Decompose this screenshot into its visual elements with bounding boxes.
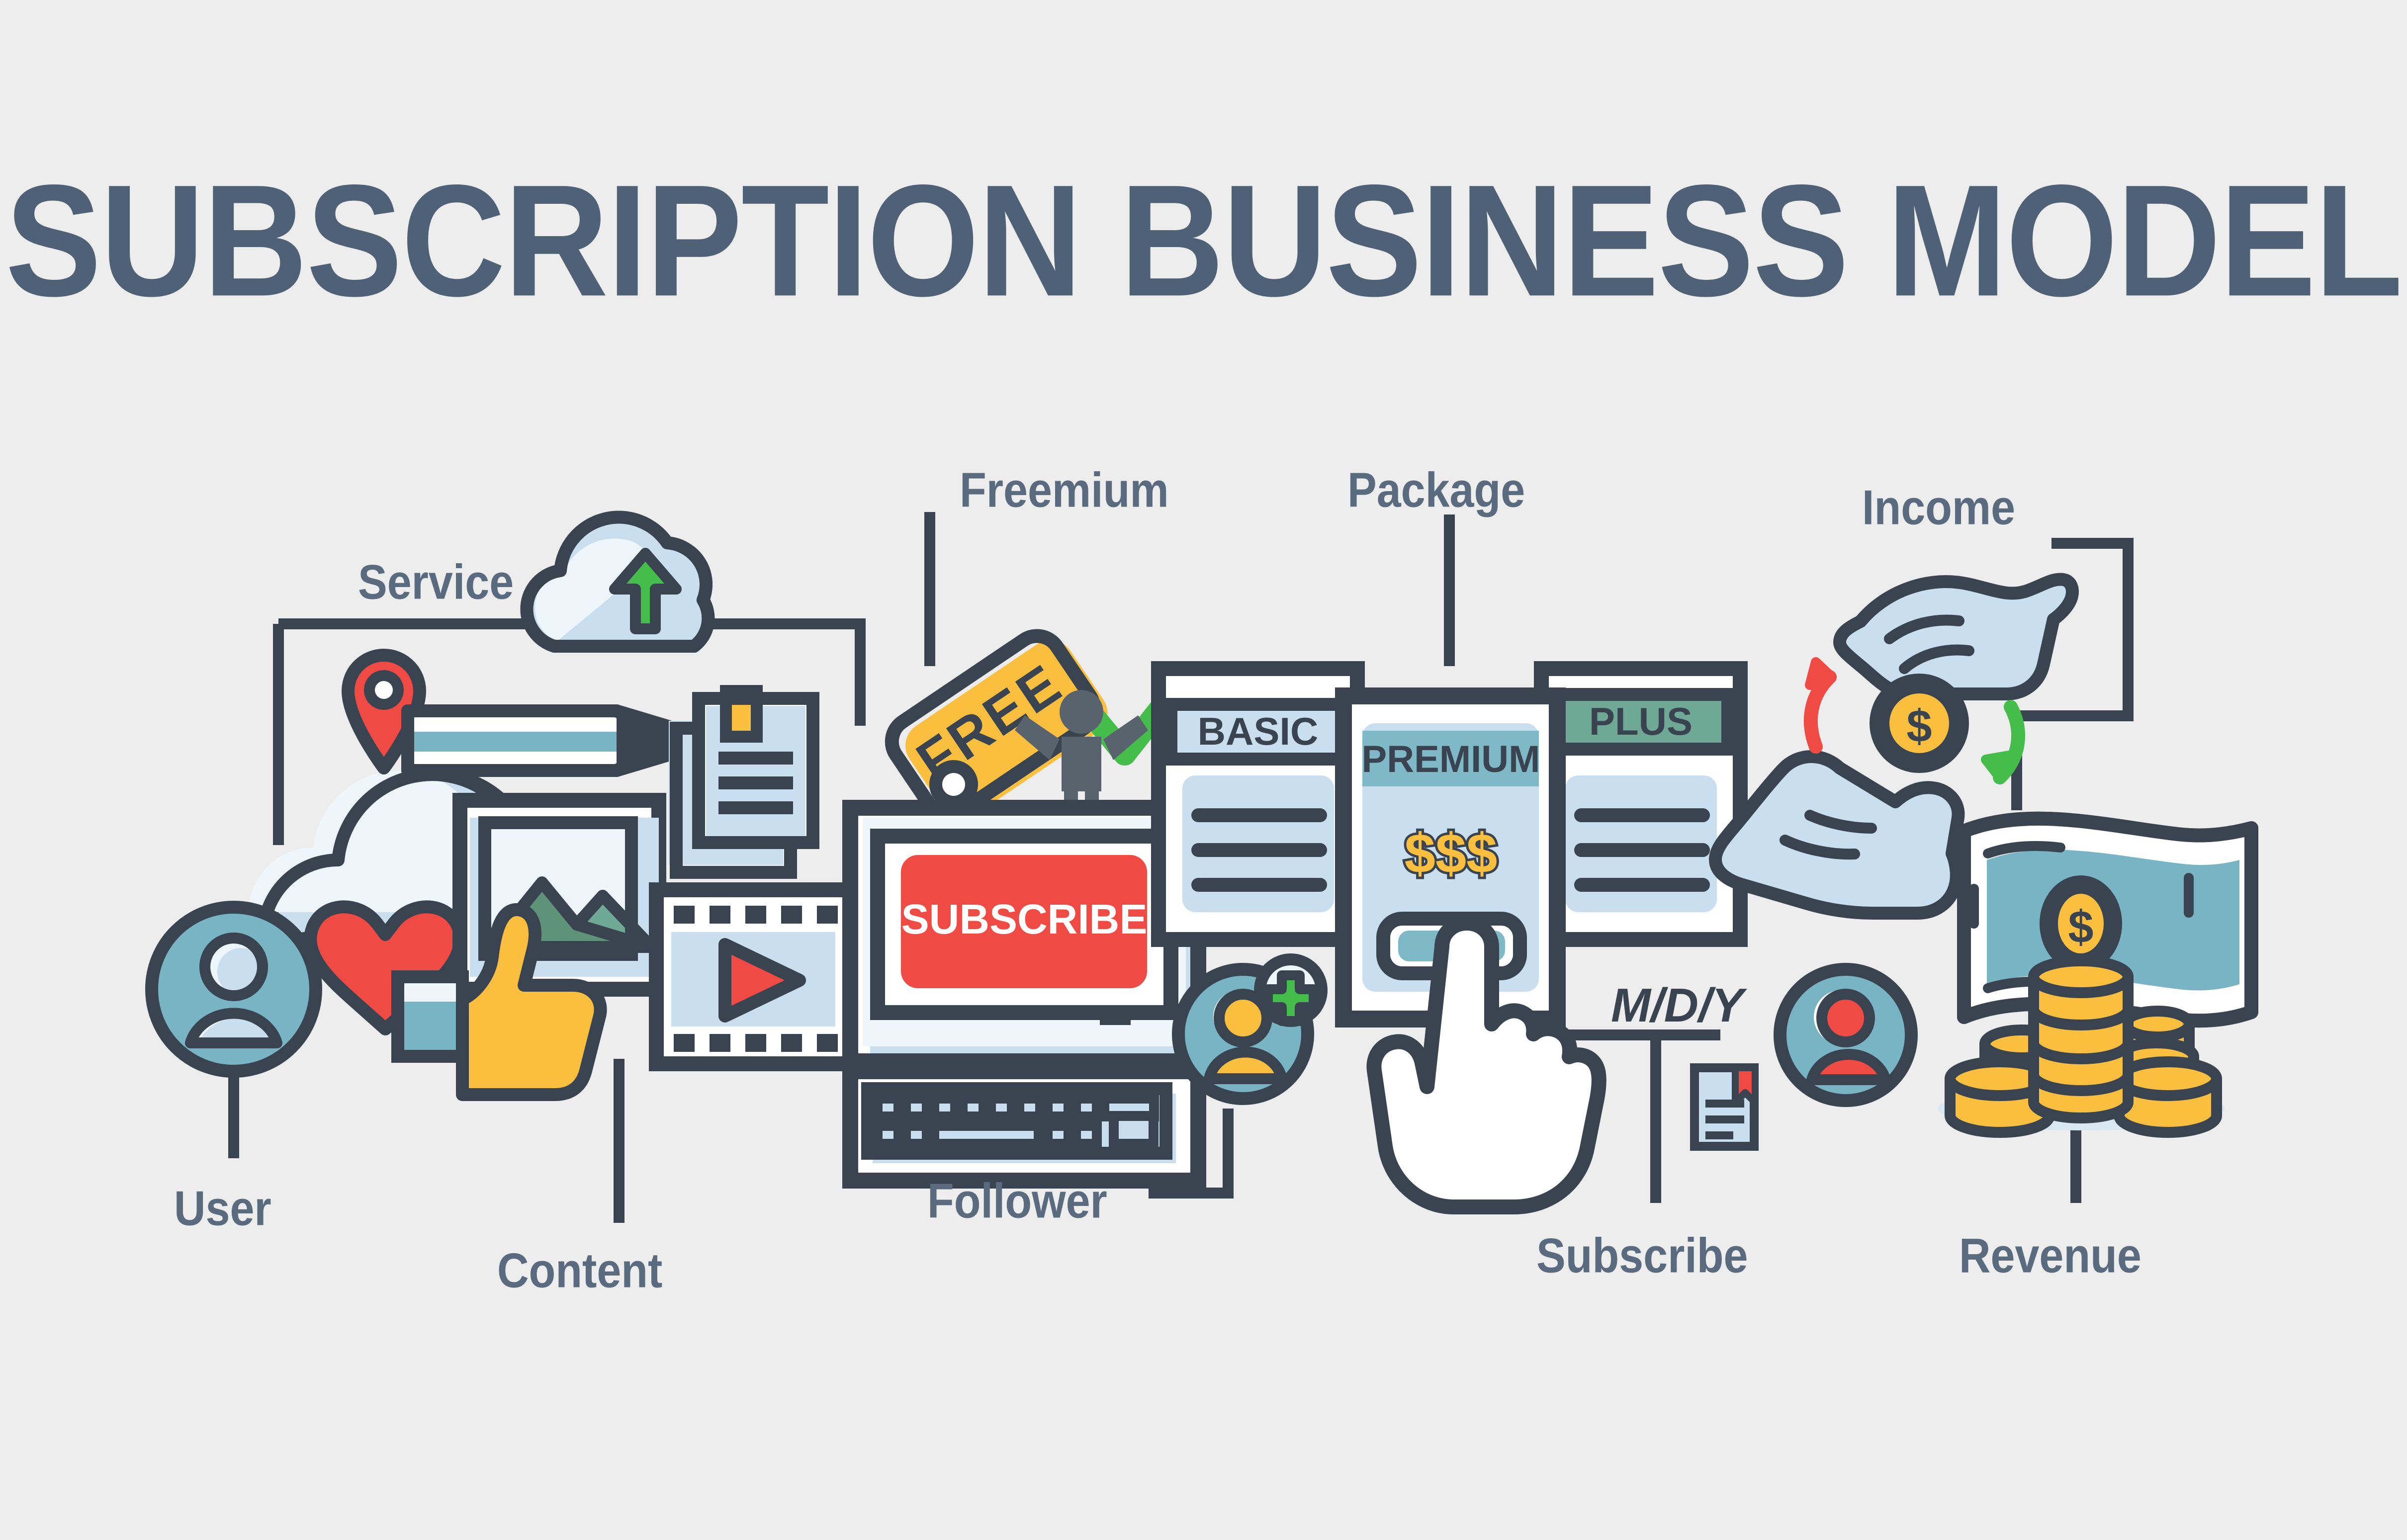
label-freemium: Freemium — [960, 462, 1169, 518]
premium-label: PREMIUM — [1362, 738, 1540, 780]
keyboard-icon — [850, 1071, 1198, 1181]
package-card-basic: BASIC — [1159, 669, 1357, 940]
cloud-upload-icon — [527, 517, 708, 646]
user-avatar-icon — [152, 907, 316, 1071]
label-subscribe: Subscribe — [1536, 1227, 1748, 1284]
monitor-icon: SUBSCRIBE — [850, 808, 1198, 1061]
document-stack-icon — [669, 691, 813, 872]
label-follower: Follower — [927, 1173, 1107, 1229]
label-content: Content — [497, 1242, 662, 1299]
red-avatar-icon — [1780, 969, 1911, 1101]
infographic-canvas: SUBSCRIPTION BUSINESS MODEL .ol{fill:non… — [0, 0, 2407, 1540]
arrow-up-red-icon — [1810, 662, 1832, 747]
premium-price: $$$ — [1405, 822, 1498, 884]
plus-label: PLUS — [1589, 699, 1693, 743]
label-package: Package — [1347, 462, 1525, 518]
label-income: Income — [1862, 479, 2015, 536]
illustration-layer: .ol{fill:none;stroke:#3a4450;stroke-widt… — [0, 0, 2407, 1540]
label-service: Service — [358, 554, 514, 610]
follower-add-icon — [1178, 959, 1322, 1099]
svg-text:$: $ — [2068, 902, 2093, 952]
label-user: User — [174, 1180, 271, 1237]
arrow-down-green-icon — [1986, 707, 2018, 777]
svg-text:$: $ — [1906, 701, 1932, 752]
billing-cycle-text: M/D/Y — [1611, 979, 1748, 1032]
bookmarked-document-icon — [1694, 1068, 1758, 1151]
video-film-icon — [656, 890, 850, 1064]
package-card-plus: PLUS — [1541, 669, 1740, 940]
subscribe-button-text: SUBSCRIBE — [901, 896, 1148, 942]
basic-label: BASIC — [1198, 709, 1319, 753]
label-revenue: Revenue — [1959, 1227, 2141, 1284]
